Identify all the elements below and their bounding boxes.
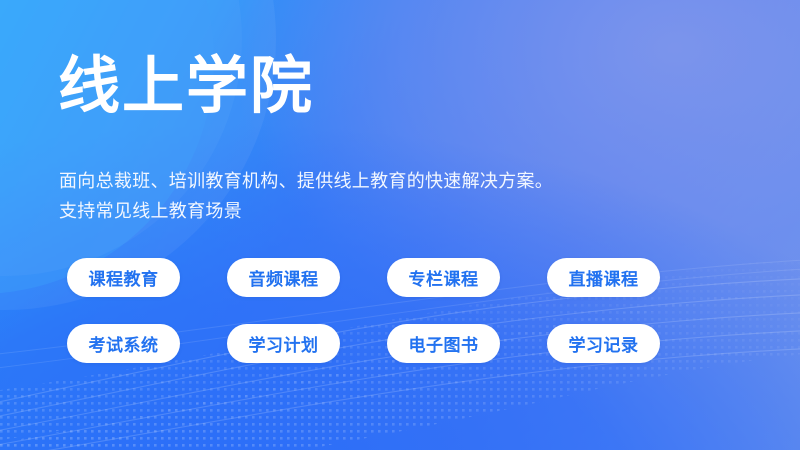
pill-study-record[interactable]: 学习记录 xyxy=(547,324,660,363)
subtitle-line-2: 支持常见线上教育场景 xyxy=(59,196,553,226)
banner-subtitle: 面向总裁班、培训教育机构、提供线上教育的快速解决方案。 支持常见线上教育场景 xyxy=(59,166,553,226)
pill-course-education[interactable]: 课程教育 xyxy=(67,258,180,297)
feature-pill-row-1: 课程教育 音频课程 专栏课程 直播课程 xyxy=(67,258,757,297)
banner-content: 线上学院 面向总裁班、培训教育机构、提供线上教育的快速解决方案。 支持常见线上教… xyxy=(58,0,758,450)
pill-study-plan[interactable]: 学习计划 xyxy=(227,324,340,363)
pill-ebook[interactable]: 电子图书 xyxy=(387,324,500,363)
pill-audio-course[interactable]: 音频课程 xyxy=(227,258,340,297)
feature-pill-group: 课程教育 音频课程 专栏课程 直播课程 考试系统 学习计划 电子图书 学习记录 xyxy=(67,258,757,390)
pill-column-course[interactable]: 专栏课程 xyxy=(387,258,500,297)
pill-exam-system[interactable]: 考试系统 xyxy=(67,324,180,363)
feature-pill-row-2: 考试系统 学习计划 电子图书 学习记录 xyxy=(67,324,757,363)
pill-live-course[interactable]: 直播课程 xyxy=(547,258,660,297)
page-title: 线上学院 xyxy=(58,56,314,118)
subtitle-line-1: 面向总裁班、培训教育机构、提供线上教育的快速解决方案。 xyxy=(59,166,553,196)
online-academy-banner: 线上学院 面向总裁班、培训教育机构、提供线上教育的快速解决方案。 支持常见线上教… xyxy=(0,0,800,450)
